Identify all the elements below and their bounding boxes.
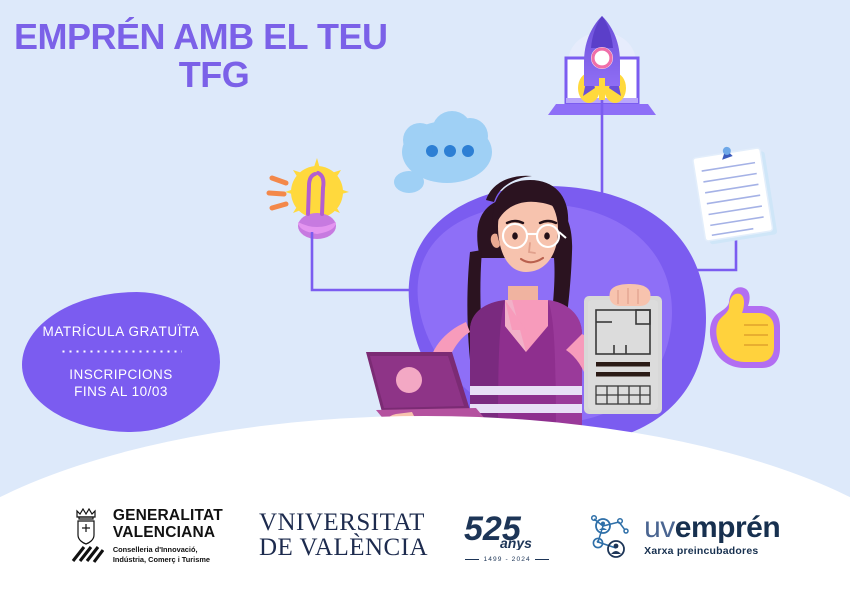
- uv-line1: VNIVERSITAT: [259, 510, 428, 536]
- badge-free-tuition: MATRÍCULA GRATUÏTA: [42, 324, 199, 339]
- svg-text:anys: anys: [500, 535, 532, 550]
- generalitat-text: GENERALITAT VALENCIANA Conselleria d'Inn…: [113, 505, 223, 565]
- report-board: [584, 296, 662, 414]
- 525-years-text: 1499 - 2024: [483, 556, 530, 563]
- logo-525-anys: 525 anys 1499 - 2024: [464, 508, 550, 563]
- generalitat-crest-icon: [70, 505, 104, 563]
- logo-uvempren: uvemprén Xarxa preincubadores: [586, 510, 780, 560]
- rocket-laptop-icon: [548, 16, 656, 120]
- thought-bubble-icon: [394, 111, 492, 193]
- uvempren-text: uvemprén Xarxa preincubadores: [644, 513, 780, 557]
- uv-line2: DE VALÈNCIA: [259, 535, 428, 561]
- thumbs-up-icon: [710, 287, 780, 368]
- logo-generalitat-valenciana: GENERALITAT VALENCIANA Conselleria d'Inn…: [70, 505, 223, 565]
- uvempren-wordmark: uvemprén: [644, 513, 780, 543]
- uvempren-name: emprén: [675, 511, 780, 544]
- uvempren-prefix: uv: [644, 511, 675, 544]
- gv-name-line2: VALENCIANA: [113, 525, 223, 542]
- gv-name-line1: GENERALITAT: [113, 508, 223, 525]
- badge-deadline: INSCRIPCIONS FINS AL 10/03: [69, 366, 173, 401]
- poster: EMPRÉN AMB EL TEU TFG MATRÍCULA GRATUÏTA…: [0, 0, 850, 596]
- gv-sub-line2: Indústria, Comerç i Turisme: [113, 555, 223, 565]
- poster-title: EMPRÉN AMB EL TEU TFG: [14, 18, 414, 94]
- badge-deadline-line1: INSCRIPCIONS: [69, 367, 173, 382]
- logo-universitat-valencia: VNIVERSITAT DE VALÈNCIA: [259, 510, 428, 561]
- title-line-2: TFG: [14, 56, 414, 94]
- 525-number-icon: 525 anys: [464, 508, 550, 550]
- badge-deadline-line2: FINS AL 10/03: [74, 384, 168, 399]
- right-hand: [609, 284, 650, 306]
- gv-sub-line1: Conselleria d'Innovació,: [113, 545, 223, 555]
- lightbulb-icon: [269, 158, 349, 239]
- network-nodes-icon: [586, 510, 636, 560]
- title-line-1: EMPRÉN AMB EL TEU: [14, 18, 414, 56]
- footer-logos: GENERALITAT VALENCIANA Conselleria d'Inn…: [0, 492, 850, 578]
- 525-years-range: 1499 - 2024: [464, 556, 550, 563]
- badge-dotted-divider: [60, 350, 182, 353]
- notepad-icon: [692, 141, 778, 245]
- uvempren-subtitle: Xarxa preincubadores: [644, 545, 780, 557]
